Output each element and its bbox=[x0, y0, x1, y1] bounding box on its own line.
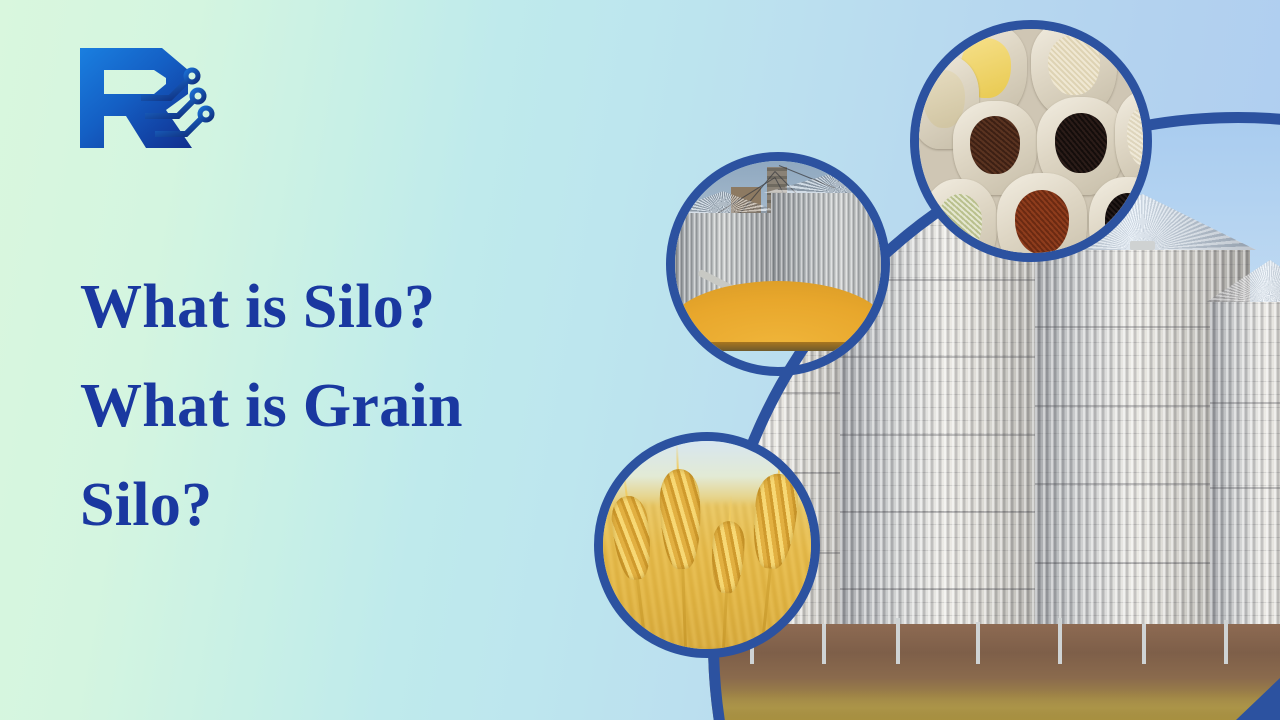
grain-bins-photo bbox=[675, 161, 881, 367]
inset-grain-sacks[interactable] bbox=[910, 20, 1152, 262]
inset-grain-bins[interactable] bbox=[666, 152, 890, 376]
page-title: What is Silo? What is Grain Silo? bbox=[80, 258, 660, 555]
headline-line-2: What is Grain bbox=[80, 357, 660, 456]
headline-line-3: Silo? bbox=[80, 456, 660, 555]
inset-wheat-ears[interactable] bbox=[594, 432, 820, 658]
headline-line-1: What is Silo? bbox=[80, 258, 660, 357]
wheat-ears-photo bbox=[603, 441, 811, 649]
brand-logo[interactable] bbox=[74, 42, 220, 164]
grain-sacks-photo bbox=[919, 29, 1143, 253]
letter-r-circuit-logo bbox=[74, 42, 220, 164]
